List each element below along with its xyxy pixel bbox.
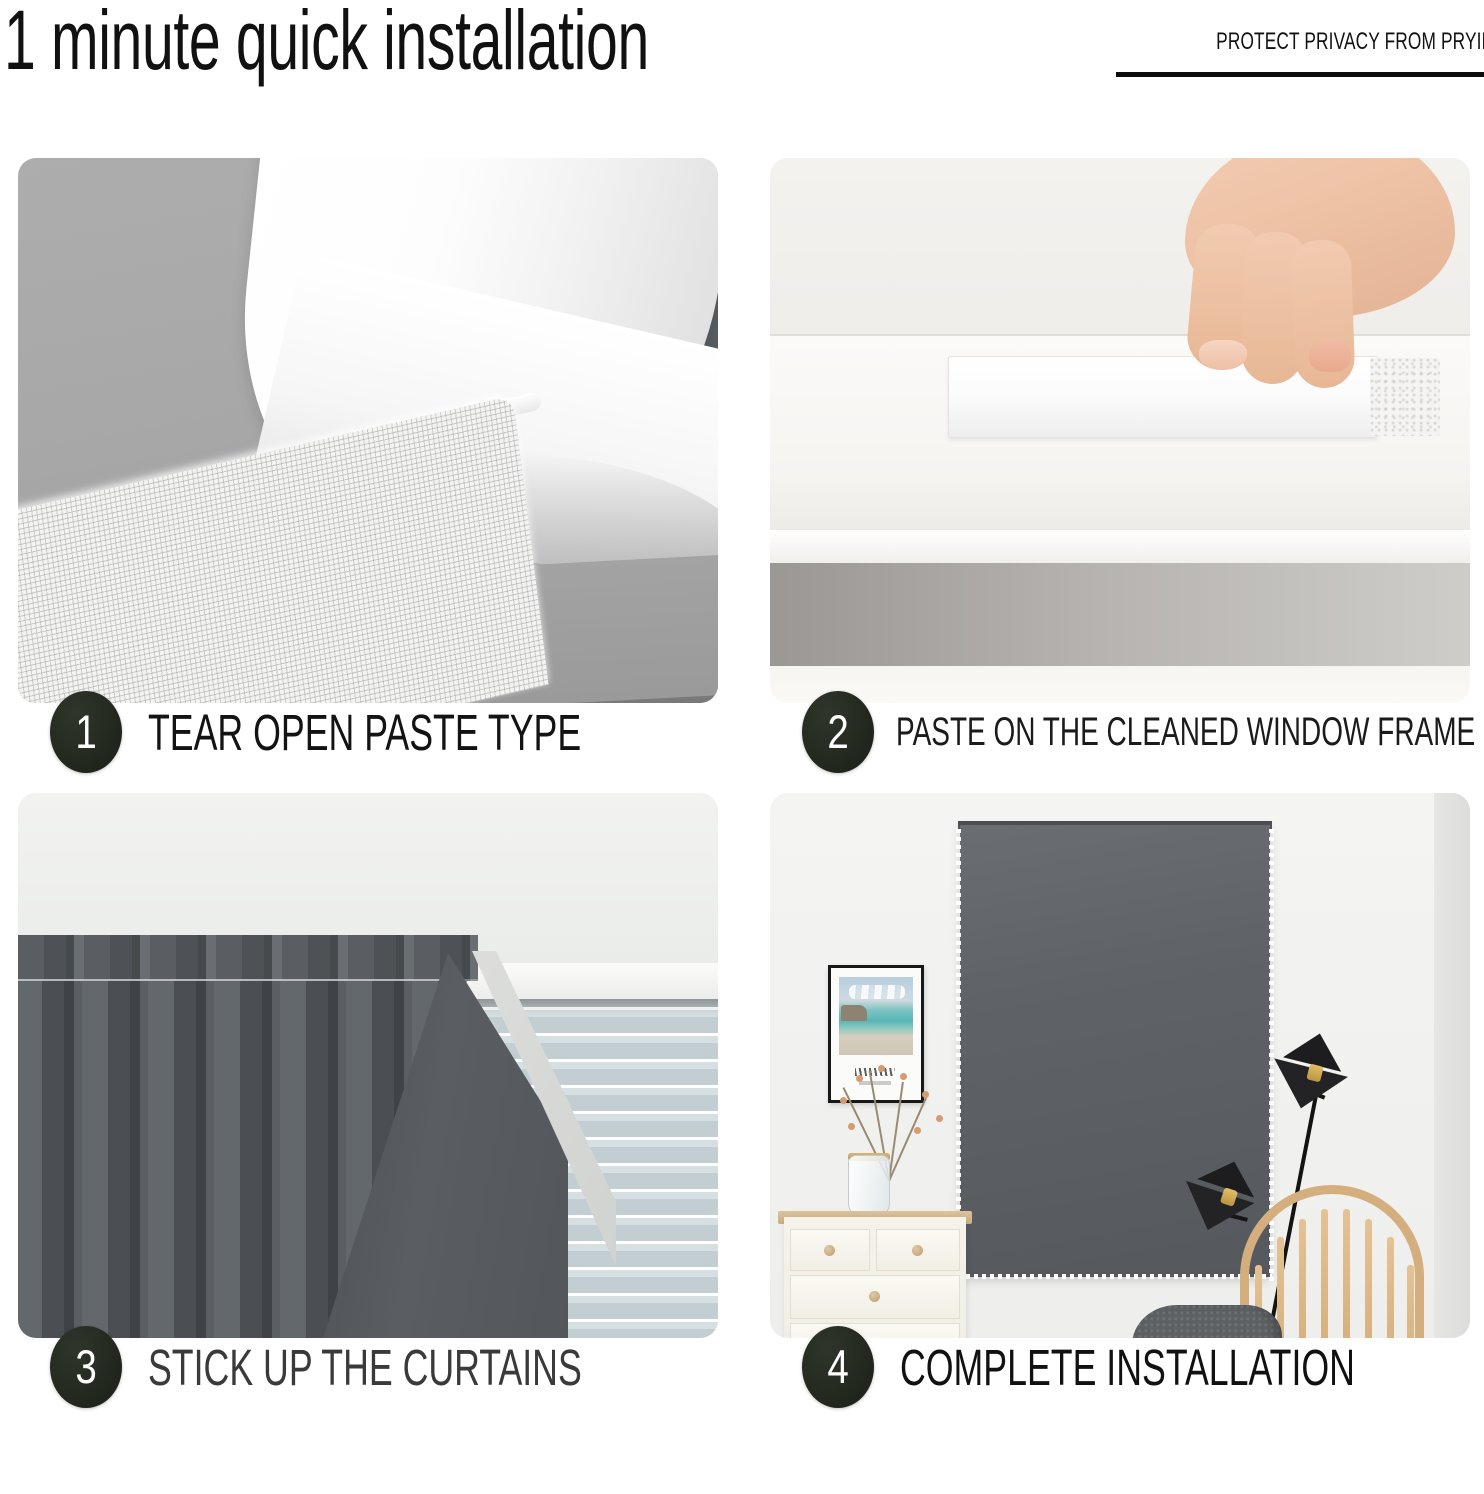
step-card-4: 4 COMPLETE INSTALLATION (770, 793, 1470, 1418)
steps-grid: 1 TEAR OPEN PASTE TYPE (18, 158, 1470, 1478)
step-card-1: 1 TEAR OPEN PASTE TYPE (18, 158, 718, 783)
tagline-block: PROTECT PRIVACY FROM PRYING EYES (1112, 28, 1484, 57)
drawer-knob (869, 1291, 880, 1302)
branch-bud (856, 1075, 863, 1082)
branch-bud (900, 1073, 907, 1080)
hand-thumbnail (1309, 338, 1351, 372)
step-3-photo (18, 793, 718, 1338)
tagline-underline (1116, 72, 1484, 77)
step-1-caption: 1 TEAR OPEN PASTE TYPE (18, 682, 718, 782)
step-4-number: 4 (827, 1343, 848, 1390)
step-2-label: PASTE ON THE CLEANED WINDOW FRAME (896, 712, 1475, 752)
step-2-badge: 2 (802, 691, 874, 773)
step-3-caption: 3 STICK UP THE CURTAINS (18, 1317, 718, 1417)
step-4-photo (770, 793, 1470, 1338)
blind-trim-bottom (958, 1274, 1272, 1279)
branch-bud (840, 1097, 847, 1104)
hand (1125, 158, 1455, 398)
curtain-top-pleats (18, 935, 478, 981)
curtain-stitch-line (18, 979, 458, 981)
artwork-clouds (849, 985, 905, 999)
step-4-label: COMPLETE INSTALLATION (900, 1342, 1355, 1393)
header: 1 minute quick installation PROTECT PRIV… (0, 0, 1484, 150)
artwork-shoreline (841, 1005, 867, 1021)
artwork-seascape (839, 977, 913, 1055)
step-1-badge: 1 (50, 691, 122, 773)
branch-bud (936, 1115, 943, 1122)
drawer-knob (912, 1245, 923, 1256)
branch-bud (878, 1065, 885, 1072)
dried-branches (826, 1061, 956, 1181)
hand-fingernail (1199, 340, 1247, 370)
step-3-number: 3 (75, 1343, 96, 1390)
page-title: 1 minute quick installation (4, 0, 649, 84)
step-1-photo (18, 158, 718, 703)
step-3-badge: 3 (50, 1326, 122, 1408)
window-sill (770, 530, 1470, 566)
step-1-label: TEAR OPEN PASTE TYPE (148, 707, 581, 758)
glass-vase (848, 1155, 890, 1219)
tagline-text: PROTECT PRIVACY FROM PRYING EYES (1216, 28, 1484, 57)
step-1-number: 1 (75, 708, 96, 755)
step-card-3: 3 STICK UP THE CURTAINS (18, 793, 718, 1418)
branch-bud (848, 1123, 855, 1130)
drawer-knob (824, 1245, 835, 1256)
step-3-label: STICK UP THE CURTAINS (148, 1342, 582, 1393)
step-4-badge: 4 (802, 1326, 874, 1408)
step-card-2: 2 PASTE ON THE CLEANED WINDOW FRAME (770, 158, 1470, 783)
step-2-caption: 2 PASTE ON THE CLEANED WINDOW FRAME (770, 682, 1470, 782)
branch-bud (922, 1091, 929, 1098)
wall-lower (770, 563, 1470, 668)
step-4-caption: 4 COMPLETE INSTALLATION (770, 1317, 1470, 1417)
branch-bud (914, 1127, 921, 1134)
wall-right-edge (1434, 793, 1470, 1338)
step-2-number: 2 (827, 708, 848, 755)
step-2-photo (770, 158, 1470, 703)
